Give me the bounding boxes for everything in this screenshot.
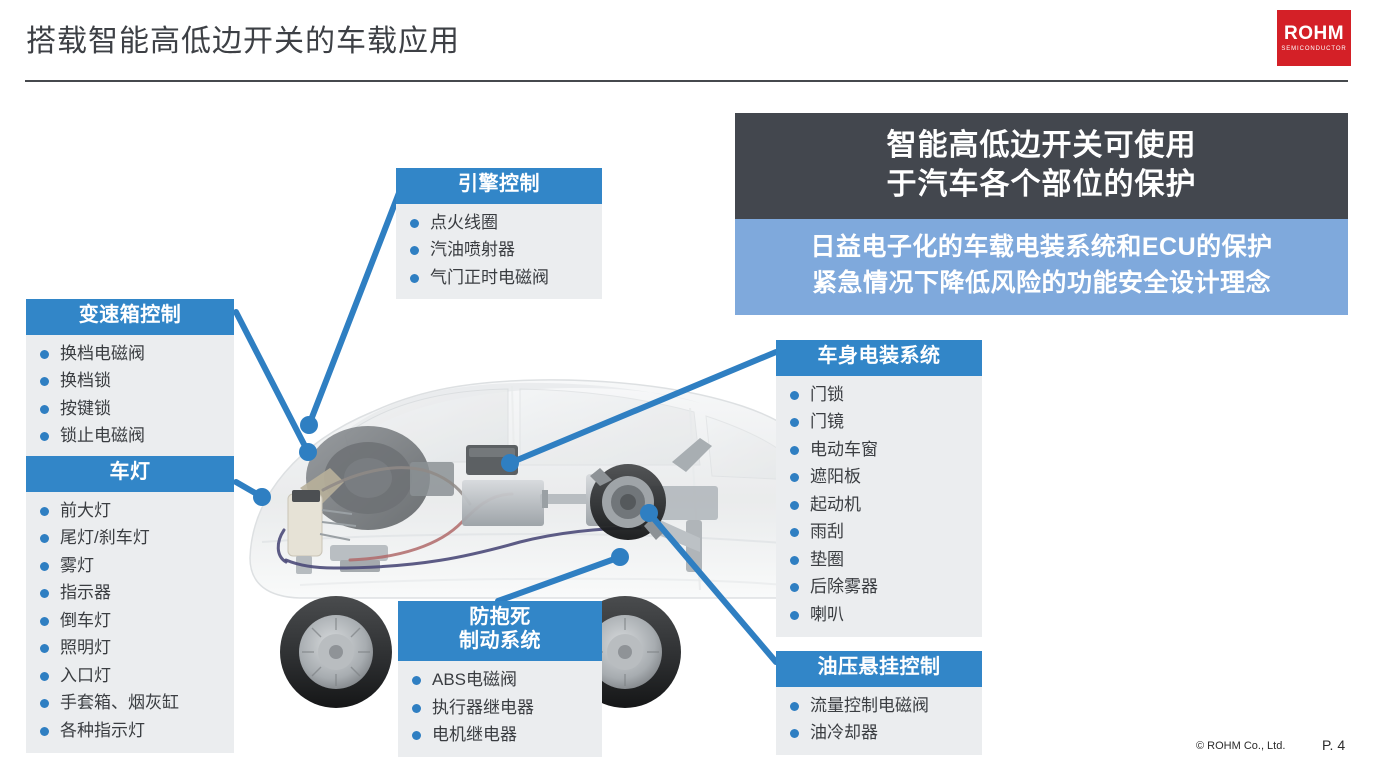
- callout-title-abs-line2: 制动系统: [404, 630, 596, 654]
- callout-title-hydraulic-suspension-control: 油压悬挂控制: [776, 651, 982, 687]
- callout-engine-control: 引擎控制 点火线圈 汽油喷射器 气门正时电磁阀: [396, 168, 602, 299]
- callout-title-abs-brake-system: 防抱死 制动系统: [398, 601, 602, 661]
- callout-title-engine-control: 引擎控制: [396, 168, 602, 204]
- banner-headline: 智能高低边开关可使用 于汽车各个部位的保护: [735, 113, 1348, 219]
- callout-body-electrical-system: 车身电装系统 门锁 门镜 电动车窗 遮阳板 起动机 雨刮 垫圈 后除雾器 喇叭: [776, 340, 982, 637]
- callout-list-engine-control: 点火线圈 汽油喷射器 气门正时电磁阀: [396, 204, 602, 300]
- list-item: 油冷却器: [790, 723, 972, 743]
- callout-title-body-electrical-system: 车身电装系统: [776, 340, 982, 376]
- list-item: ABS电磁阀: [412, 670, 592, 690]
- list-item: 起动机: [790, 495, 972, 515]
- rear-suspension: [648, 438, 718, 572]
- engine-assembly: [288, 426, 454, 574]
- list-item: 电机继电器: [412, 725, 592, 745]
- slide-canvas: 搭载智能高低边开关的车载应用 ROHM SEMICONDUCTOR: [0, 0, 1374, 774]
- list-item: 汽油喷射器: [410, 240, 592, 260]
- list-item: 喇叭: [790, 605, 972, 625]
- list-item: 照明灯: [40, 638, 224, 658]
- callout-title-lights: 车灯: [26, 456, 234, 492]
- banner-headline-line2: 于汽车各个部位的保护: [745, 165, 1338, 204]
- callout-list-abs-brake-system: ABS电磁阀 执行器继电器 电机继电器: [398, 661, 602, 757]
- ecu-module: [466, 445, 518, 475]
- list-item: 前大灯: [40, 501, 224, 521]
- list-item: 各种指示灯: [40, 721, 224, 741]
- list-item: 指示器: [40, 583, 224, 603]
- list-item: 遮阳板: [790, 467, 972, 487]
- front-wheel: [280, 596, 392, 708]
- footer-page-number: P. 4: [1322, 737, 1345, 753]
- list-item: 电动车窗: [790, 440, 972, 460]
- list-item: 尾灯/刹车灯: [40, 528, 224, 548]
- list-item: 流量控制电磁阀: [790, 696, 972, 716]
- list-item: 门镜: [790, 412, 972, 432]
- list-item: 雨刮: [790, 522, 972, 542]
- drivetrain: [462, 474, 654, 526]
- callout-list-lights: 前大灯 尾灯/刹车灯 雾灯 指示器 倒车灯 照明灯 入口灯 手套箱、烟灰缸 各种…: [26, 492, 234, 753]
- list-item: 门锁: [790, 385, 972, 405]
- footer-copyright: © ROHM Co., Ltd.: [1196, 740, 1285, 752]
- list-item: 雾灯: [40, 556, 224, 576]
- banner-body-line2: 紧急情况下降低风险的功能安全设计理念: [743, 266, 1340, 302]
- highlight-banner: 智能高低边开关可使用 于汽车各个部位的保护 日益电子化的车载电装系统和ECU的保…: [735, 113, 1348, 315]
- banner-body: 日益电子化的车载电装系统和ECU的保护 紧急情况下降低风险的功能安全设计理念: [735, 219, 1348, 315]
- list-item: 执行器继电器: [412, 698, 592, 718]
- list-item: 锁止电磁阀: [40, 426, 224, 446]
- list-item: 倒车灯: [40, 611, 224, 631]
- callout-hydraulic-suspension-control: 油压悬挂控制 流量控制电磁阀 油冷却器: [776, 651, 982, 755]
- list-item: 垫圈: [790, 550, 972, 570]
- callout-title-abs-line1: 防抱死: [404, 606, 596, 630]
- connector-dots: [253, 416, 658, 566]
- rohm-logo: ROHM SEMICONDUCTOR: [1277, 10, 1351, 66]
- list-item: 入口灯: [40, 666, 224, 686]
- list-item: 后除雾器: [790, 577, 972, 597]
- page-title: 搭载智能高低边开关的车载应用: [26, 16, 460, 60]
- logo-tagline: SEMICONDUCTOR: [1281, 46, 1346, 52]
- list-item: 气门正时电磁阀: [410, 268, 592, 288]
- wiring-harness: [278, 468, 640, 568]
- callout-list-body-electrical-system: 门锁 门镜 电动车窗 遮阳板 起动机 雨刮 垫圈 后除雾器 喇叭: [776, 376, 982, 637]
- banner-body-line1: 日益电子化的车载电装系统和ECU的保护: [743, 230, 1340, 266]
- list-item: 换档电磁阀: [40, 344, 224, 364]
- rear-brake-assembly: [590, 464, 666, 540]
- banner-headline-line1: 智能高低边开关可使用: [745, 126, 1338, 165]
- callout-list-hydraulic-suspension-control: 流量控制电磁阀 油冷却器: [776, 687, 982, 755]
- callout-title-transmission-control: 变速箱控制: [26, 299, 234, 335]
- callout-lights: 车灯 前大灯 尾灯/刹车灯 雾灯 指示器 倒车灯 照明灯 入口灯 手套箱、烟灰缸…: [26, 456, 234, 753]
- callout-list-transmission-control: 换档电磁阀 换档锁 按键锁 锁止电磁阀: [26, 335, 234, 458]
- list-item: 换档锁: [40, 371, 224, 391]
- list-item: 按键锁: [40, 399, 224, 419]
- list-item: 点火线圈: [410, 213, 592, 233]
- title-divider: [25, 80, 1348, 82]
- callout-transmission-control: 变速箱控制 换档电磁阀 换档锁 按键锁 锁止电磁阀: [26, 299, 234, 458]
- callout-abs-brake-system: 防抱死 制动系统 ABS电磁阀 执行器继电器 电机继电器: [398, 601, 602, 757]
- list-item: 手套箱、烟灰缸: [40, 693, 224, 713]
- logo-wordmark: ROHM: [1284, 24, 1344, 43]
- car-shell: [250, 380, 826, 598]
